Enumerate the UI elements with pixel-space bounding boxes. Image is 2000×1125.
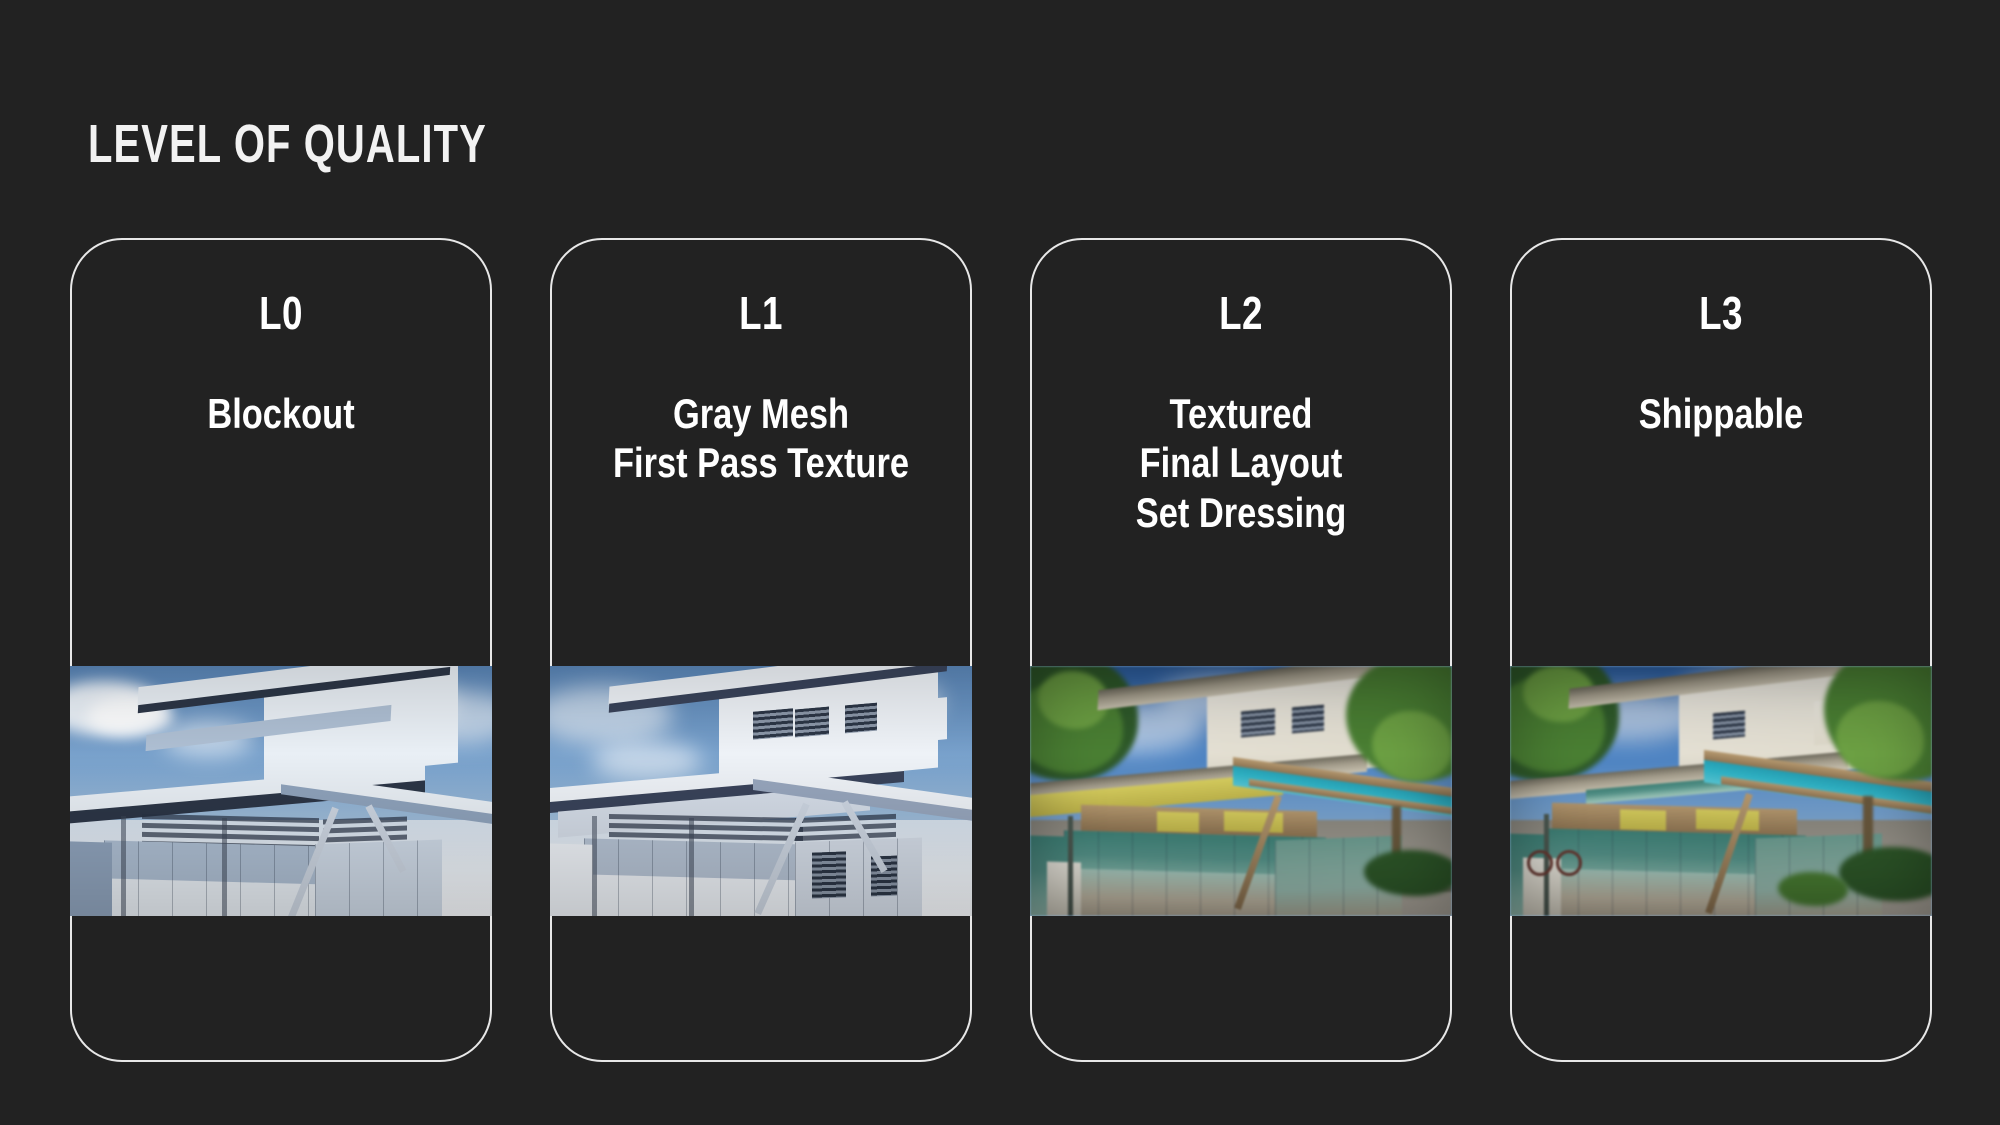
- card-level-label: L1: [602, 288, 920, 339]
- card-text-block: L2 Textured Final Layout Set Dressing: [1032, 288, 1450, 537]
- quality-card-l0[interactable]: L0 Blockout: [70, 238, 492, 1062]
- l1-gray-mesh-render: [550, 666, 972, 916]
- card-description-line: First Pass Texture: [598, 438, 924, 488]
- card-level-label: L0: [122, 288, 440, 339]
- quality-card-l1[interactable]: L1 Gray Mesh First Pass Texture: [550, 238, 972, 1062]
- slide-canvas: LEVEL OF QUALITY L0 Blockout: [0, 0, 2000, 1125]
- card-text-block: L1 Gray Mesh First Pass Texture: [552, 288, 970, 488]
- card-description: Blockout: [118, 389, 444, 439]
- card-description-line: Final Layout: [1078, 438, 1404, 488]
- card-level-label: L2: [1082, 288, 1400, 339]
- quality-card-l2[interactable]: L2 Textured Final Layout Set Dressing: [1030, 238, 1452, 1062]
- card-description: Shippable: [1558, 389, 1884, 439]
- card-description: Gray Mesh First Pass Texture: [598, 389, 924, 488]
- quality-level-card-row: L0 Blockout: [70, 238, 1932, 1062]
- card-level-label: L3: [1562, 288, 1880, 339]
- card-description-line: Set Dressing: [1078, 488, 1404, 538]
- quality-card-l3[interactable]: L3 Shippable: [1510, 238, 1932, 1062]
- l3-shippable-render: [1510, 666, 1932, 916]
- card-text-block: L0 Blockout: [72, 288, 490, 438]
- page-title: LEVEL OF QUALITY: [88, 116, 487, 173]
- card-description-line: Blockout: [118, 389, 444, 439]
- card-description-line: Textured: [1078, 389, 1404, 439]
- card-description-line: Shippable: [1558, 389, 1884, 439]
- l2-textured-render: [1030, 666, 1452, 916]
- card-description: Textured Final Layout Set Dressing: [1078, 389, 1404, 538]
- l0-blockout-render: [70, 666, 492, 916]
- card-description-line: Gray Mesh: [598, 389, 924, 439]
- card-text-block: L3 Shippable: [1512, 288, 1930, 438]
